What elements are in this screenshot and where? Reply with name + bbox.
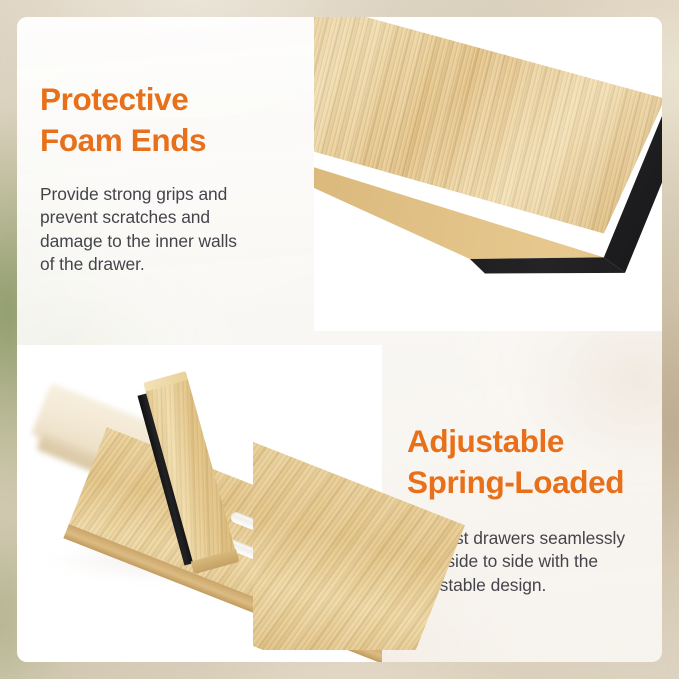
bamboo-slab-overflow — [253, 420, 483, 650]
feature-block-foam-ends: Protective Foam Ends Provide strong grip… — [40, 79, 298, 277]
product-feature-poster: Protective Foam Ends Provide strong grip… — [0, 0, 679, 679]
feature-headline-foam-ends: Protective Foam Ends — [40, 79, 298, 161]
bamboo-board-illustration — [314, 17, 662, 325]
bamboo-slab — [253, 430, 465, 650]
feature-body-foam-ends: Provide strong grips and prevent scratch… — [40, 183, 298, 277]
photo-panel-foam-end — [314, 17, 662, 331]
bamboo-grain-texture — [253, 430, 465, 650]
